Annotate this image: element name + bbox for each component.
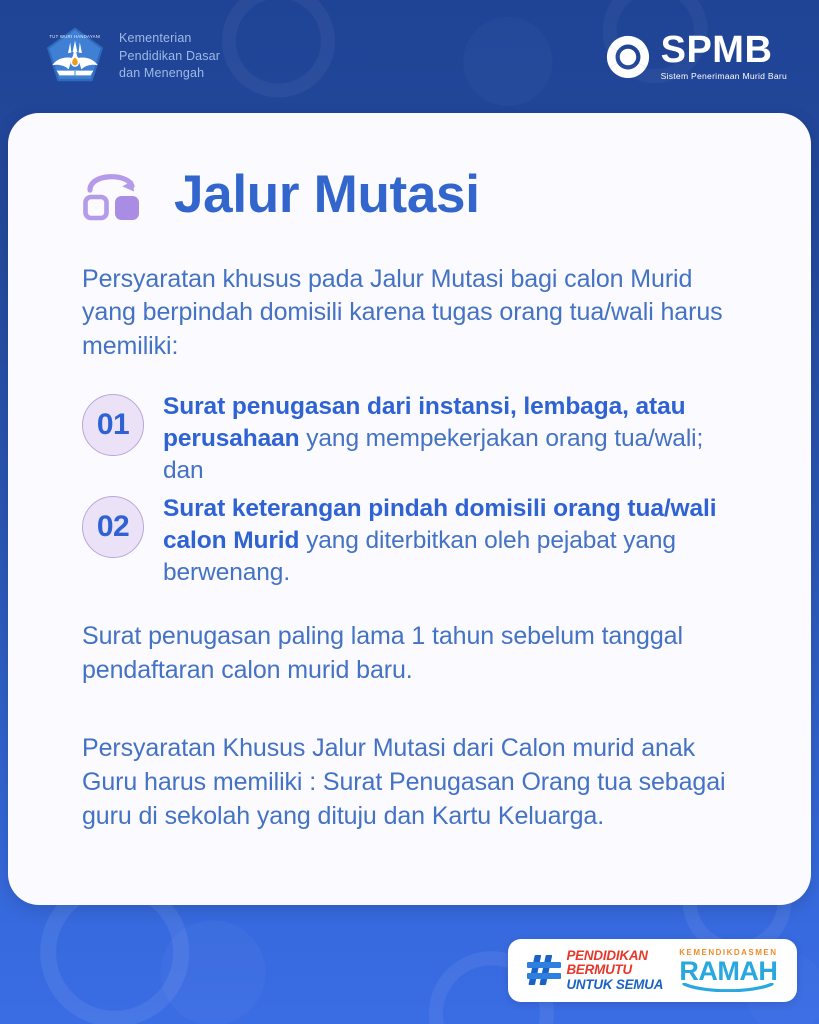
footer-badge: PENDIDIKAN BERMUTU UNTUK SEMUA KEMENDIKD…: [508, 939, 797, 1002]
list-item: 01 Surat penugasan dari instansi, lembag…: [82, 391, 749, 487]
item-text: Surat keterangan pindah domisili orang t…: [163, 493, 749, 589]
kemendikdasmen-ramah-logo: KEMENDIKDASMEN RAMAH: [679, 949, 777, 992]
title-row: Jalur Mutasi: [82, 167, 749, 221]
campaign-line-3: UNTUK SEMUA: [566, 978, 663, 992]
tut-wuri-handayani-logo: TUT WURI HANDAYANI: [44, 26, 106, 88]
campaign-text: PENDIDIKAN BERMUTU UNTUK SEMUA: [566, 949, 663, 992]
pendidikan-bermutu-logo: PENDIDIKAN BERMUTU UNTUK SEMUA: [527, 949, 663, 992]
paragraph-2: Persyaratan Khusus Jalur Mutasi dari Cal…: [82, 731, 749, 833]
page-header: TUT WURI HANDAYANI Kementerian Pendidika…: [0, 0, 819, 113]
ramah-wordmark: RAMAH: [679, 958, 777, 985]
spmb-branding: SPMB Sistem Penerimaan Murid Baru: [605, 32, 787, 81]
hashtag-icon: [527, 954, 561, 986]
item-number-badge: 01: [82, 394, 144, 456]
transfer-boxes-icon: [82, 167, 144, 221]
ramah-swoosh-icon: [682, 983, 774, 992]
svg-text:TUT WURI HANDAYANI: TUT WURI HANDAYANI: [49, 34, 100, 39]
campaign-line-1: PENDIDIKAN: [566, 949, 663, 963]
item-number-badge: 02: [82, 496, 144, 558]
paragraph-1: Surat penugasan paling lama 1 tahun sebe…: [82, 619, 749, 687]
item-text: Surat penugasan dari instansi, lembaga, …: [163, 391, 749, 487]
intro-paragraph: Persyaratan khusus pada Jalur Mutasi bag…: [82, 263, 749, 363]
spmb-logo-icon: [605, 34, 651, 80]
spmb-title: SPMB: [661, 32, 787, 68]
spmb-subtitle: Sistem Penerimaan Murid Baru: [661, 71, 787, 81]
list-item: 02 Surat keterangan pindah domisili oran…: [82, 493, 749, 589]
requirements-list: 01 Surat penugasan dari instansi, lembag…: [82, 391, 749, 590]
content-card: Jalur Mutasi Persyaratan khusus pada Jal…: [8, 113, 811, 905]
ministry-name: Kementerian Pendidikan Dasar dan Menenga…: [119, 30, 220, 83]
page-title: Jalur Mutasi: [174, 168, 480, 221]
ministry-branding: TUT WURI HANDAYANI Kementerian Pendidika…: [44, 26, 220, 88]
campaign-line-2: BERMUTU: [566, 963, 663, 977]
